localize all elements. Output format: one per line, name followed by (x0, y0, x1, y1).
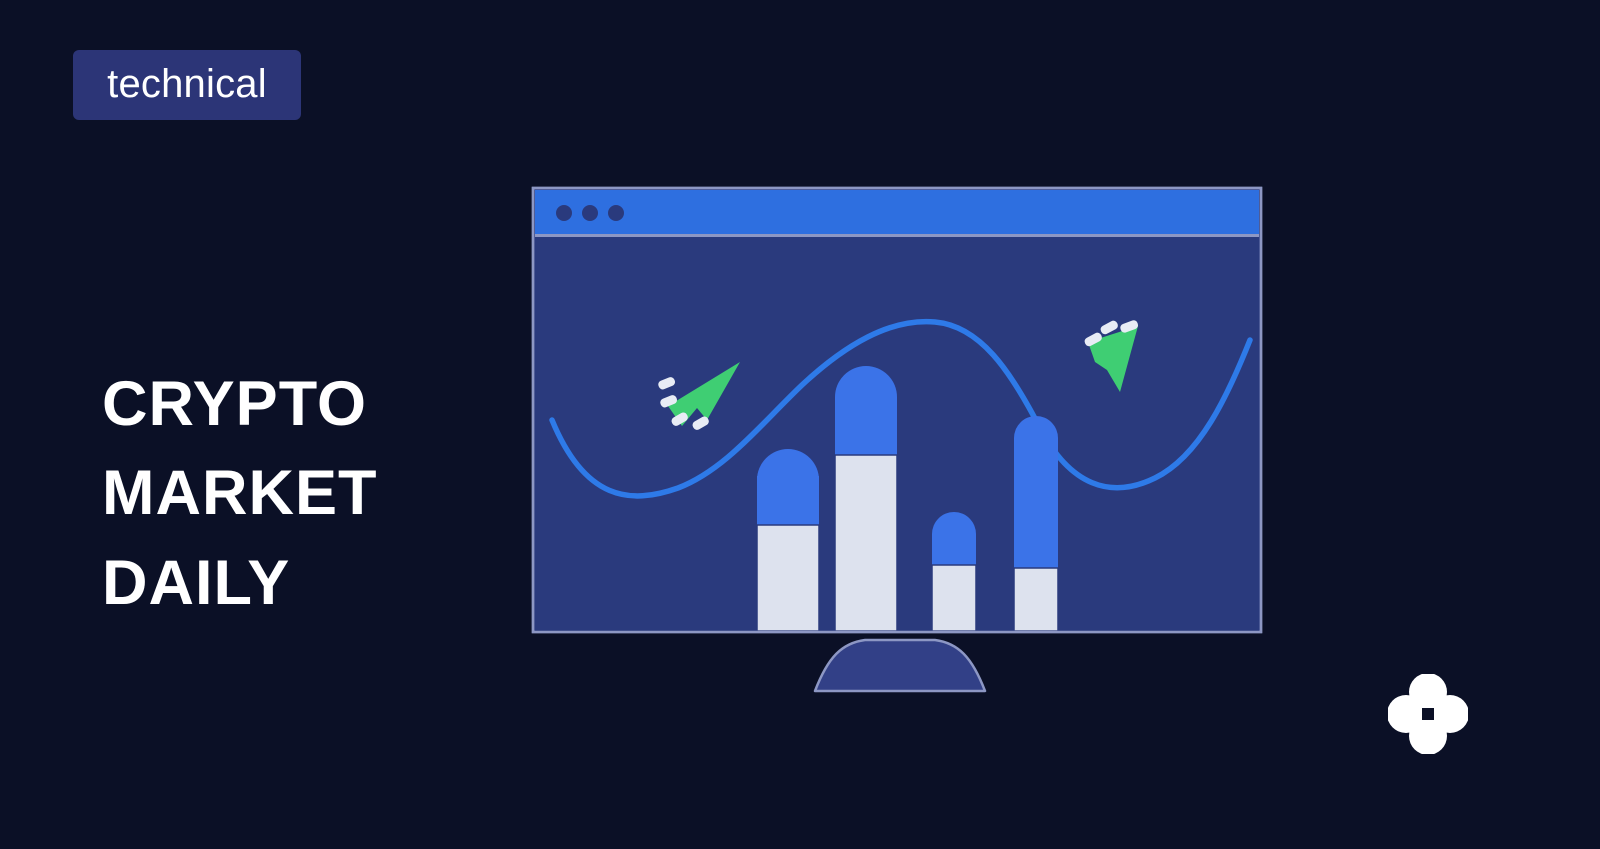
titlebar-dot-1 (556, 205, 572, 221)
badge-label: technical (107, 64, 267, 107)
clover-petal-left (1388, 695, 1425, 733)
bar-1 (757, 449, 819, 631)
titlebar-dot-2 (582, 205, 598, 221)
bar-2 (835, 366, 897, 631)
titlebar-dot-3 (608, 205, 624, 221)
headline-line-1: CRYPTO (102, 360, 562, 449)
page-title: CRYPTO MARKET DAILY (102, 360, 562, 628)
bar-3 (932, 512, 976, 631)
bar-4 (1014, 416, 1058, 631)
chart-area (535, 237, 1259, 631)
clover-center (1422, 708, 1434, 720)
clover-petal-right (1431, 695, 1468, 733)
headline-line-2: MARKET (102, 449, 562, 538)
four-petal-clover-logo (1388, 674, 1468, 754)
monitor-stand (815, 640, 985, 691)
monitor-illustration (510, 170, 1290, 710)
headline-line-3: DAILY (102, 539, 562, 628)
poster-canvas: technical CRYPTO MARKET DAILY (0, 0, 1600, 849)
browser-titlebar (535, 190, 1259, 237)
technical-badge: technical (73, 50, 301, 120)
